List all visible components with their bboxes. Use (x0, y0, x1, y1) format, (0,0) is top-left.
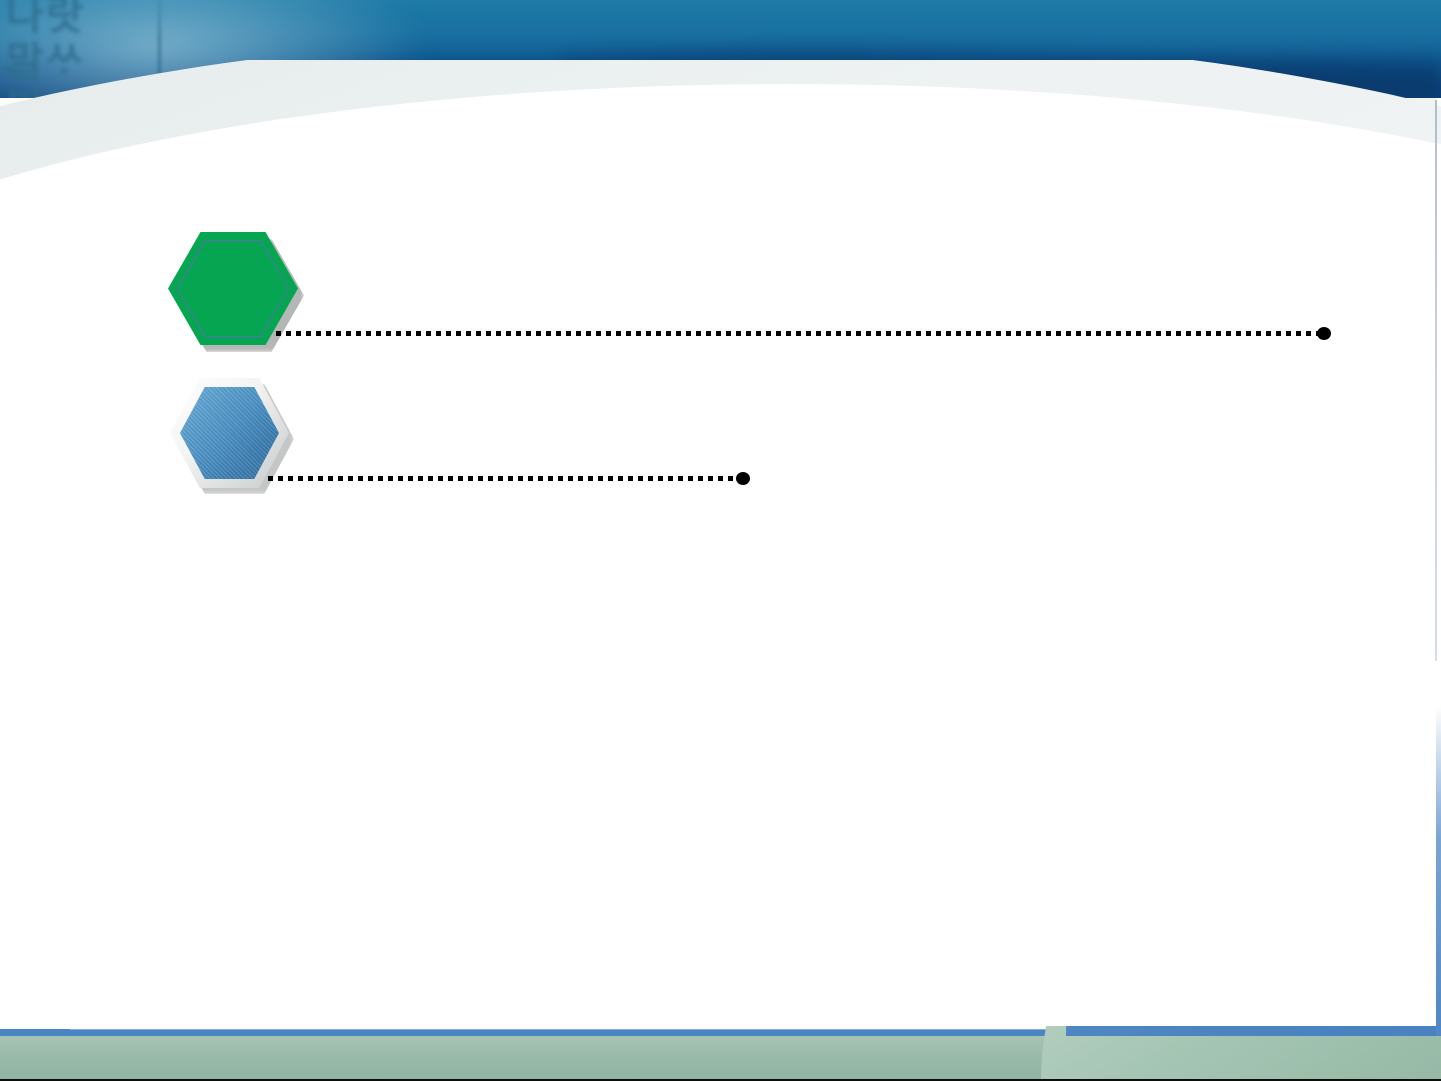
connector-line-1-endpoint-dot (1317, 327, 1331, 340)
connector-line-1 (276, 331, 1331, 336)
calligraphy-dot-mark-1 (2, 66, 14, 74)
connector-line-2-endpoint-dot (736, 472, 750, 485)
korean-calligraphy-text: 나랏 말ᄊᆞ 미 (6, 0, 176, 98)
hexagon-blue-label (170, 378, 171, 379)
footer-band-green (0, 1036, 1441, 1081)
banner-underline-strip (250, 98, 1436, 114)
footer-swoosh-decoration (921, 661, 1441, 1081)
right-edge-rule (1435, 100, 1437, 980)
footer-band-highlight (70, 1028, 1170, 1030)
footer-swoosh-white-cutout (1026, 661, 1441, 1026)
connector-line-1-dots (276, 331, 1320, 336)
hexagon-green-label (168, 232, 169, 233)
footer-band-blue (0, 1029, 1441, 1036)
connector-line-2-dots (268, 476, 739, 481)
presentation-slide: 나랏 말ᄊᆞ 미 (0, 0, 1441, 1081)
connector-line-2 (268, 476, 750, 481)
footer-swoosh-green (1041, 721, 1441, 1081)
slide-banner-image: 나랏 말ᄊᆞ 미 (0, 0, 1441, 98)
footer-swoosh-blue (1066, 661, 1441, 1036)
